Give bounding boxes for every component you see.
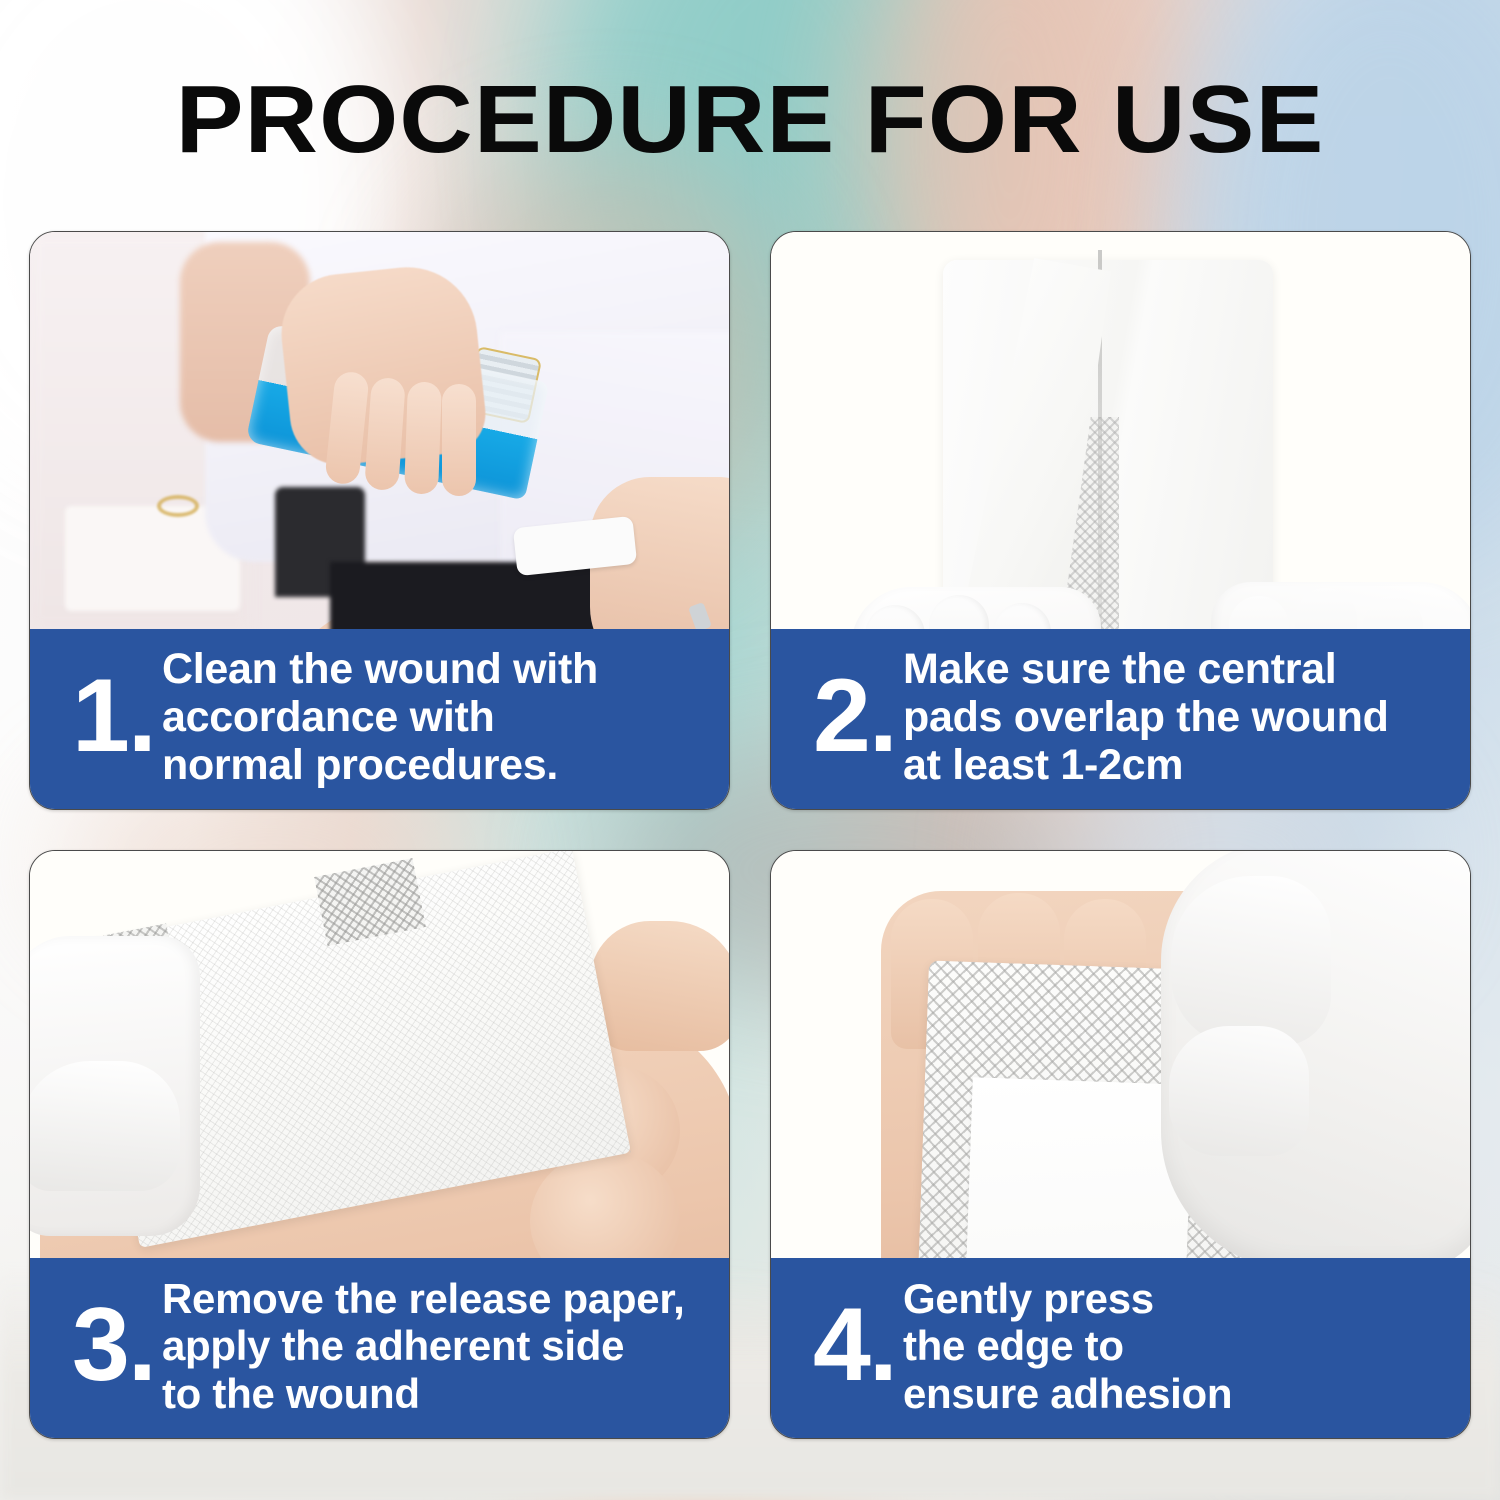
- photo2-glove-finger: [929, 595, 989, 629]
- photo1-jar-ring: [157, 495, 199, 517]
- photo4-central-pad: [961, 1077, 1192, 1258]
- infographic-page: PROCEDURE FOR USE: [0, 0, 1500, 1500]
- step-2-text: Make sure the central pads overlap the w…: [903, 645, 1450, 789]
- photo1-finger: [442, 384, 476, 496]
- step-card-2: 2. Make sure the central pads overlap th…: [770, 231, 1471, 810]
- step-card-4: 4. Gently press the edge to ensure adhes…: [770, 850, 1471, 1439]
- photo4-glove-thumb: [1169, 1026, 1309, 1156]
- photo3-thumb: [590, 921, 729, 1051]
- photo2-glove-finger: [1363, 596, 1423, 629]
- photo2-right-glove: [1211, 582, 1470, 629]
- photo1-finger: [404, 381, 442, 494]
- step-4-text: Gently press the edge to ensure adhesion: [903, 1275, 1450, 1416]
- step-2-photo-central-pads: [771, 232, 1470, 629]
- step-4-photo-press-edge: [771, 851, 1470, 1258]
- step-3-text: Remove the release paper, apply the adhe…: [162, 1275, 709, 1416]
- photo2-glove-finger: [993, 603, 1051, 629]
- step-4-number: 4.: [791, 1298, 903, 1394]
- step-2-number: 2.: [791, 669, 903, 765]
- photo3-glove-thumb: [30, 1061, 180, 1191]
- photo4-glove-fingers: [1171, 876, 1331, 1046]
- photo2-glove-finger: [865, 605, 925, 629]
- step-1-number: 1.: [50, 669, 162, 765]
- step-3-photo-apply-dressing: [30, 851, 729, 1258]
- steps-grid: 1. Clean the wound with accordance with …: [29, 231, 1471, 1439]
- step-3-caption: 3. Remove the release paper, apply the a…: [30, 1258, 729, 1438]
- step-card-1: 1. Clean the wound with accordance with …: [29, 231, 730, 810]
- step-4-caption: 4. Gently press the edge to ensure adhes…: [771, 1258, 1470, 1438]
- photo1-shorts: [330, 562, 600, 629]
- photo2-glove-finger: [1229, 596, 1289, 629]
- photo2-left-glove: [851, 587, 1101, 629]
- step-card-3: 3. Remove the release paper, apply the a…: [29, 850, 730, 1439]
- page-title: PROCEDURE FOR USE: [0, 72, 1500, 168]
- step-1-caption: 1. Clean the wound with accordance with …: [30, 629, 729, 809]
- step-1-photo-clean-wound: [30, 232, 729, 629]
- photo2-glove-finger: [1295, 588, 1357, 629]
- step-3-number: 3.: [50, 1298, 162, 1394]
- step-2-caption: 2. Make sure the central pads overlap th…: [771, 629, 1470, 809]
- step-1-text: Clean the wound with accordance with nor…: [162, 645, 709, 789]
